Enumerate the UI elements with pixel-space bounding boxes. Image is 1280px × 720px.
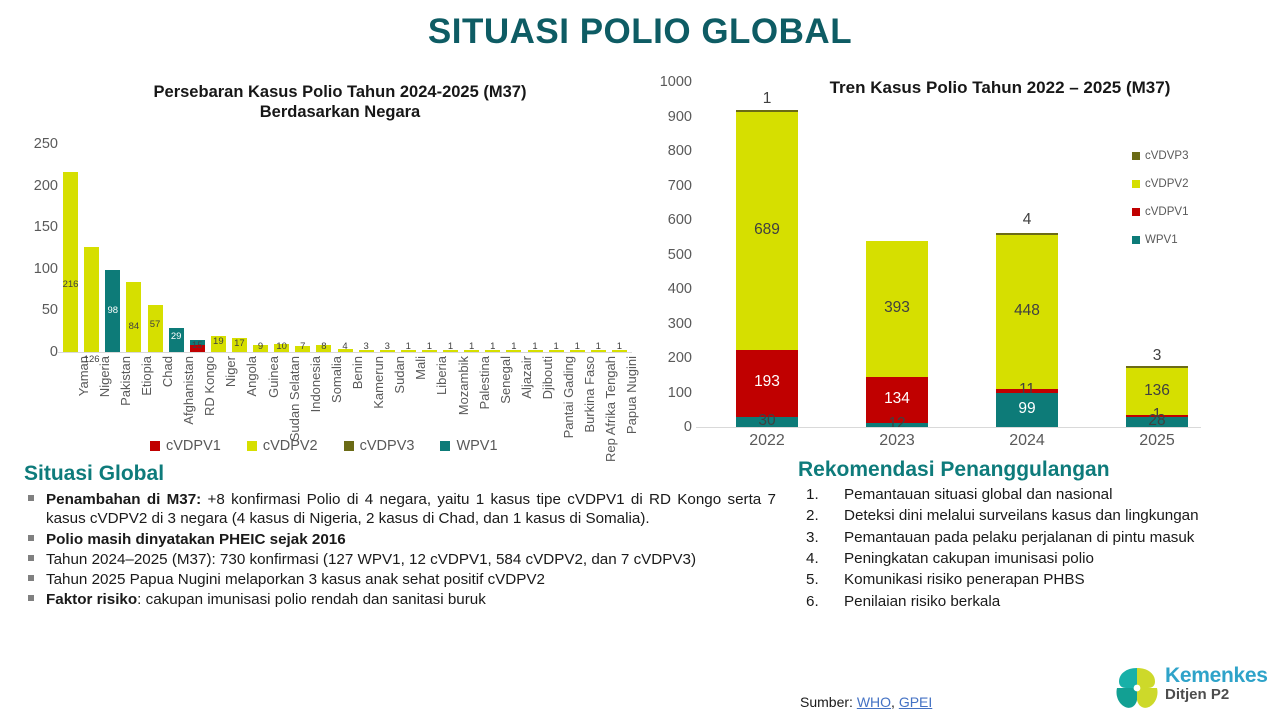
trend-segment-cVDPV2: 448 [996,235,1058,390]
legend-label: cVDPV2 [1145,178,1188,190]
bullet-bold-text: Penambahan di M37: [46,491,201,508]
left-chart-value-label: 3 [363,341,368,352]
legend-label: WPV1 [456,438,497,454]
rekomendasi-item: 3.Pemantauan pada pelaku perjalanan di p… [798,528,1268,548]
legend-label: cVDPV2 [263,438,318,454]
rekomendasi-item: 1.Pemantauan situasi global dan nasional [798,485,1268,505]
trend-bar-2024[interactable]: 44811994 [996,233,1058,427]
right-y-tick: 200 [640,350,692,366]
source-separator: , [891,694,895,710]
logo-name: Kemenkes [1165,665,1268,687]
country-distribution-chart: Persebaran Kasus Polio Tahun 2024-2025 (… [0,70,640,470]
trend-top-label: 1 [736,90,798,108]
left-chart-value-label: 1 [553,341,558,352]
right-y-tick: 900 [640,109,692,125]
left-chart-category-label: Benin [350,356,365,389]
trend-value-label: 99 [996,400,1058,418]
trend-x-label: 2025 [1112,432,1202,450]
legend-item-cVDPV2[interactable]: cVDPV2 [247,438,318,454]
left-chart-value-label: 1 [532,341,537,352]
left-chart-value-label: 1 [596,341,601,352]
left-chart-bar-segment [63,172,78,352]
left-chart-value-label: 3 [385,341,390,352]
situasi-global-bullet: Faktor risiko: cakupan imunisasi polio r… [24,590,776,609]
rekomendasi-item: 5.Komunikasi risiko penerapan PHBS [798,570,1268,590]
right-y-tick: 0 [640,419,692,435]
left-chart-value-label: 9 [258,341,263,352]
left-chart-category-label: Liberia [434,356,449,395]
trend-segment-WPV1: 30 [736,417,798,427]
left-chart-value-label: 1 [575,341,580,352]
left-chart-value-label: 1 [406,341,411,352]
situasi-global-list: Penambahan di M37: +8 konfirmasi Polio d… [24,490,776,610]
legend-label: cVDPV1 [166,438,221,454]
left-chart-category-label: Mali [413,356,428,380]
bullet-bold-text: Faktor risiko [46,591,137,608]
left-chart-category-label: Niger [223,356,238,387]
right-y-tick: 600 [640,212,692,228]
left-chart-category-label: RD Kongo [202,356,217,416]
situasi-global-bullet: Polio masih dinyatakan PHEIC sejak 2016 [24,530,776,549]
kemenkes-logo: Kemenkes Ditjen P2 [1113,663,1268,713]
left-chart-category-label: Chad [160,356,175,387]
left-chart-bar[interactable]: 8 [316,345,331,352]
left-chart-value-label: 98 [107,305,118,316]
bullet-text: Tahun 2024–2025 (M37): 730 konfirmasi (1… [46,551,696,568]
trend-top-label: 4 [996,211,1058,229]
left-chart-value-label: 1 [617,341,622,352]
left-y-tick: 250 [14,136,58,152]
rekomendasi-number: 6. [806,592,832,612]
left-chart-category-label: Papua Nugini [624,356,639,434]
rekomendasi-number: 5. [806,570,832,590]
left-chart-category-label: Rep Afrika Tengah [603,356,618,462]
kemenkes-flower-icon [1113,665,1161,711]
logo-subtitle: Ditjen P2 [1165,687,1268,704]
legend-swatch-icon [1132,236,1140,244]
left-chart-category-label: Afghanistan [181,356,196,425]
left-chart-category-label: Somalia [329,356,344,403]
kemenkes-wordmark: Kemenkes Ditjen P2 [1165,665,1268,704]
rekomendasi-item: 2.Deteksi dini melalui surveilans kasus … [798,506,1268,526]
situasi-global-panel: Situasi Global Penambahan di M37: +8 kon… [24,462,776,611]
left-chart-category-label: Palestina [477,356,492,409]
rekomendasi-heading: Rekomendasi Penanggulangan [798,458,1268,482]
rekomendasi-number: 4. [806,549,832,569]
situasi-global-bullet: Penambahan di M37: +8 konfirmasi Polio d… [24,490,776,529]
legend-swatch-icon [344,441,354,451]
right-y-tick: 400 [640,281,692,297]
source-footer: Sumber: WHO, GPEI [800,694,932,710]
page-title: SITUASI POLIO GLOBAL [0,12,1280,52]
left-chart-category-label: Angola [244,356,259,396]
left-chart-value-label: 57 [150,319,161,330]
left-chart-value-label: 84 [129,321,140,332]
left-chart-bar[interactable]: 17 [232,338,247,352]
rekomendasi-text: Deteksi dini melalui surveilans kasus da… [844,507,1199,524]
left-chart-category-label: Indonesia [308,356,323,412]
right-y-tick: 700 [640,178,692,194]
left-chart-category-label: Aljazair [519,356,534,399]
left-chart-bar[interactable]: 10 [274,344,289,352]
trend-value-label: 448 [996,302,1058,320]
left-chart-value-label: 10 [276,341,287,352]
bullet-text: Tahun 2025 Papua Nugini melaporkan 3 kas… [46,571,545,588]
left-chart-category-label: Burkina Faso [582,356,597,433]
legend-item-cVDPV1[interactable]: cVDPV1 [1132,206,1188,218]
rekomendasi-number: 1. [806,485,832,505]
trend-top-label: 3 [1126,347,1188,365]
trend-value-label: 12 [866,415,928,433]
legend-label: cVDVP3 [1145,150,1188,162]
left-chart-category-label: Kamerun [371,356,386,409]
left-chart-value-label: 29 [171,331,182,342]
right-y-tick: 500 [640,247,692,263]
legend-label: WPV1 [1145,234,1178,246]
left-y-tick: 50 [14,302,58,318]
left-chart-value-label: 15 [192,340,203,351]
left-chart-bar[interactable]: 9 [253,345,268,352]
rekomendasi-text: Komunikasi risiko penerapan PHBS [844,571,1085,588]
rekomendasi-number: 2. [806,506,832,526]
legend-item-WPV1[interactable]: WPV1 [440,438,497,454]
left-chart-y-axis: 250200150100500 [14,144,58,352]
left-chart-bar[interactable]: 15 [190,340,205,352]
left-chart-value-label: 1 [511,341,516,352]
left-chart-category-label: Sudan [392,356,407,394]
legend-swatch-icon [150,441,160,451]
legend-item-cVDPV2[interactable]: cVDPV2 [1132,178,1188,190]
left-chart-category-label: Mozambik [456,356,471,415]
left-chart-value-label: 7 [300,341,305,352]
rekomendasi-text: Pemantauan situasi global dan nasional [844,486,1113,503]
trend-x-label: 2024 [982,432,1072,450]
bullet-bold-text: Polio masih dinyatakan PHEIC sejak 2016 [46,531,346,548]
situasi-global-heading: Situasi Global [24,462,776,486]
trend-segment-WPV1: 99 [996,393,1058,427]
left-chart-category-label: Sudan Selatan [287,356,302,441]
left-chart-value-label: 1 [469,341,474,352]
right-chart-baseline [696,427,1201,428]
left-chart-value-label: 19 [213,336,224,347]
left-chart-bar[interactable]: 216 [63,172,78,352]
trend-value-label: 193 [736,373,798,391]
left-chart-category-label: Etiopia [139,356,154,396]
left-y-tick: 150 [14,219,58,235]
trend-segment-cVDPV2: 689 [736,112,798,350]
rekomendasi-text: Peningkatan cakupan imunisasi polio [844,550,1094,567]
bullet-square-icon [28,535,34,541]
legend-label: cVDPV1 [1145,206,1188,218]
trend-bar-2023[interactable]: 39313412 [866,241,928,427]
bullet-square-icon [28,575,34,581]
left-chart-value-label: 4 [342,341,347,352]
left-chart-bar-segment [126,282,141,352]
yearly-trend-chart: Tren Kasus Polio Tahun 2022 – 2025 (M37)… [640,70,1280,470]
left-y-tick: 200 [14,178,58,194]
bullet-square-icon [28,555,34,561]
left-chart-bar[interactable]: 57 [148,305,163,352]
right-y-tick: 300 [640,316,692,332]
left-chart-value-label: 17 [234,338,245,349]
trend-value-label: 689 [736,221,798,239]
right-chart-legend: cVDVP3cVDPV2cVDPV1WPV1 [1132,150,1188,262]
situasi-global-bullet: Tahun 2024–2025 (M37): 730 konfirmasi (1… [24,550,776,569]
legend-item-cVDPV3[interactable]: cVDPV3 [344,438,415,454]
left-chart-category-label: Guinea [266,356,281,398]
left-chart-bar[interactable]: 19 [211,336,226,352]
bullet-square-icon [28,595,34,601]
right-y-tick: 100 [640,385,692,401]
left-chart-bar-segment [84,247,99,352]
trend-bar-2022[interactable]: 689193301 [736,110,798,427]
left-chart-plot: 216126988457291519179107843311111111111 [60,144,630,352]
legend-label: cVDPV3 [360,438,415,454]
rekomendasi-number: 3. [806,528,832,548]
bullet-text: : cakupan imunisasi polio rendah dan san… [137,591,486,608]
trend-value-label: 134 [866,390,928,408]
rekomendasi-item: 6.Penilaian risiko berkala [798,592,1268,612]
who-link[interactable]: WHO [857,694,891,710]
left-chart-bar[interactable]: 126 [84,247,99,352]
legend-swatch-icon [1132,152,1140,160]
trend-bar-2025[interactable]: 1361283 [1126,366,1188,427]
rekomendasi-text: Pemantauan pada pelaku perjalanan di pin… [844,529,1194,546]
left-chart-legend: cVDPV1cVDPV2cVDPV3WPV1 [150,438,498,454]
legend-swatch-icon [1132,208,1140,216]
source-label: Sumber: [800,694,853,710]
bullet-square-icon [28,495,34,501]
left-chart-value-label: 8 [321,341,326,352]
left-chart-value-label: 1 [490,341,495,352]
rekomendasi-item: 4.Peningkatan cakupan imunisasi polio [798,549,1268,569]
left-chart-category-label: Pantai Gading [561,356,576,438]
left-chart-value-label: 1 [427,341,432,352]
trend-value-label: 136 [1126,382,1188,400]
left-chart-category-label: Senegal [498,356,513,404]
legend-item-cVDPV1[interactable]: cVDPV1 [150,438,221,454]
legend-swatch-icon [1132,180,1140,188]
trend-x-label: 2022 [722,432,812,450]
left-chart-category-label: Pakistan [118,356,133,406]
right-y-tick: 1000 [640,74,692,90]
left-chart-category-label: Djibouti [540,356,555,399]
left-chart-value-label: 126 [84,354,100,365]
left-chart-value-label: 1 [448,341,453,352]
legend-swatch-icon [440,441,450,451]
trend-value-label: 393 [866,299,928,317]
left-chart-bar[interactable]: 98 [105,270,120,352]
legend-swatch-icon [247,441,257,451]
trend-x-label: 2023 [852,432,942,450]
situasi-global-bullet: Tahun 2025 Papua Nugini melaporkan 3 kas… [24,570,776,589]
rekomendasi-panel: Rekomendasi Penanggulangan 1.Pemantauan … [798,458,1268,613]
legend-item-WPV1[interactable]: WPV1 [1132,234,1188,246]
rekomendasi-text: Penilaian risiko berkala [844,593,1000,610]
trend-segment-WPV1: 28 [1126,417,1188,427]
left-chart-value-label: 216 [63,279,79,290]
right-chart-y-axis: 10009008007006005004003002001000 [640,82,692,427]
right-y-tick: 800 [640,143,692,159]
left-y-tick: 100 [14,261,58,277]
legend-item-cVDVP3[interactable]: cVDVP3 [1132,150,1188,162]
left-chart-bar[interactable]: 84 [126,282,141,352]
left-chart-bar[interactable]: 29 [169,328,184,352]
left-chart-title: Persebaran Kasus Polio Tahun 2024-2025 (… [60,82,620,122]
left-y-tick: 0 [14,344,58,360]
gpei-link[interactable]: GPEI [899,694,932,710]
trend-segment-cVDPV2: 393 [866,241,928,377]
trend-segment-cVDPV1: 193 [736,350,798,417]
left-chart-baseline [58,352,632,353]
rekomendasi-list: 1.Pemantauan situasi global dan nasional… [798,485,1268,612]
